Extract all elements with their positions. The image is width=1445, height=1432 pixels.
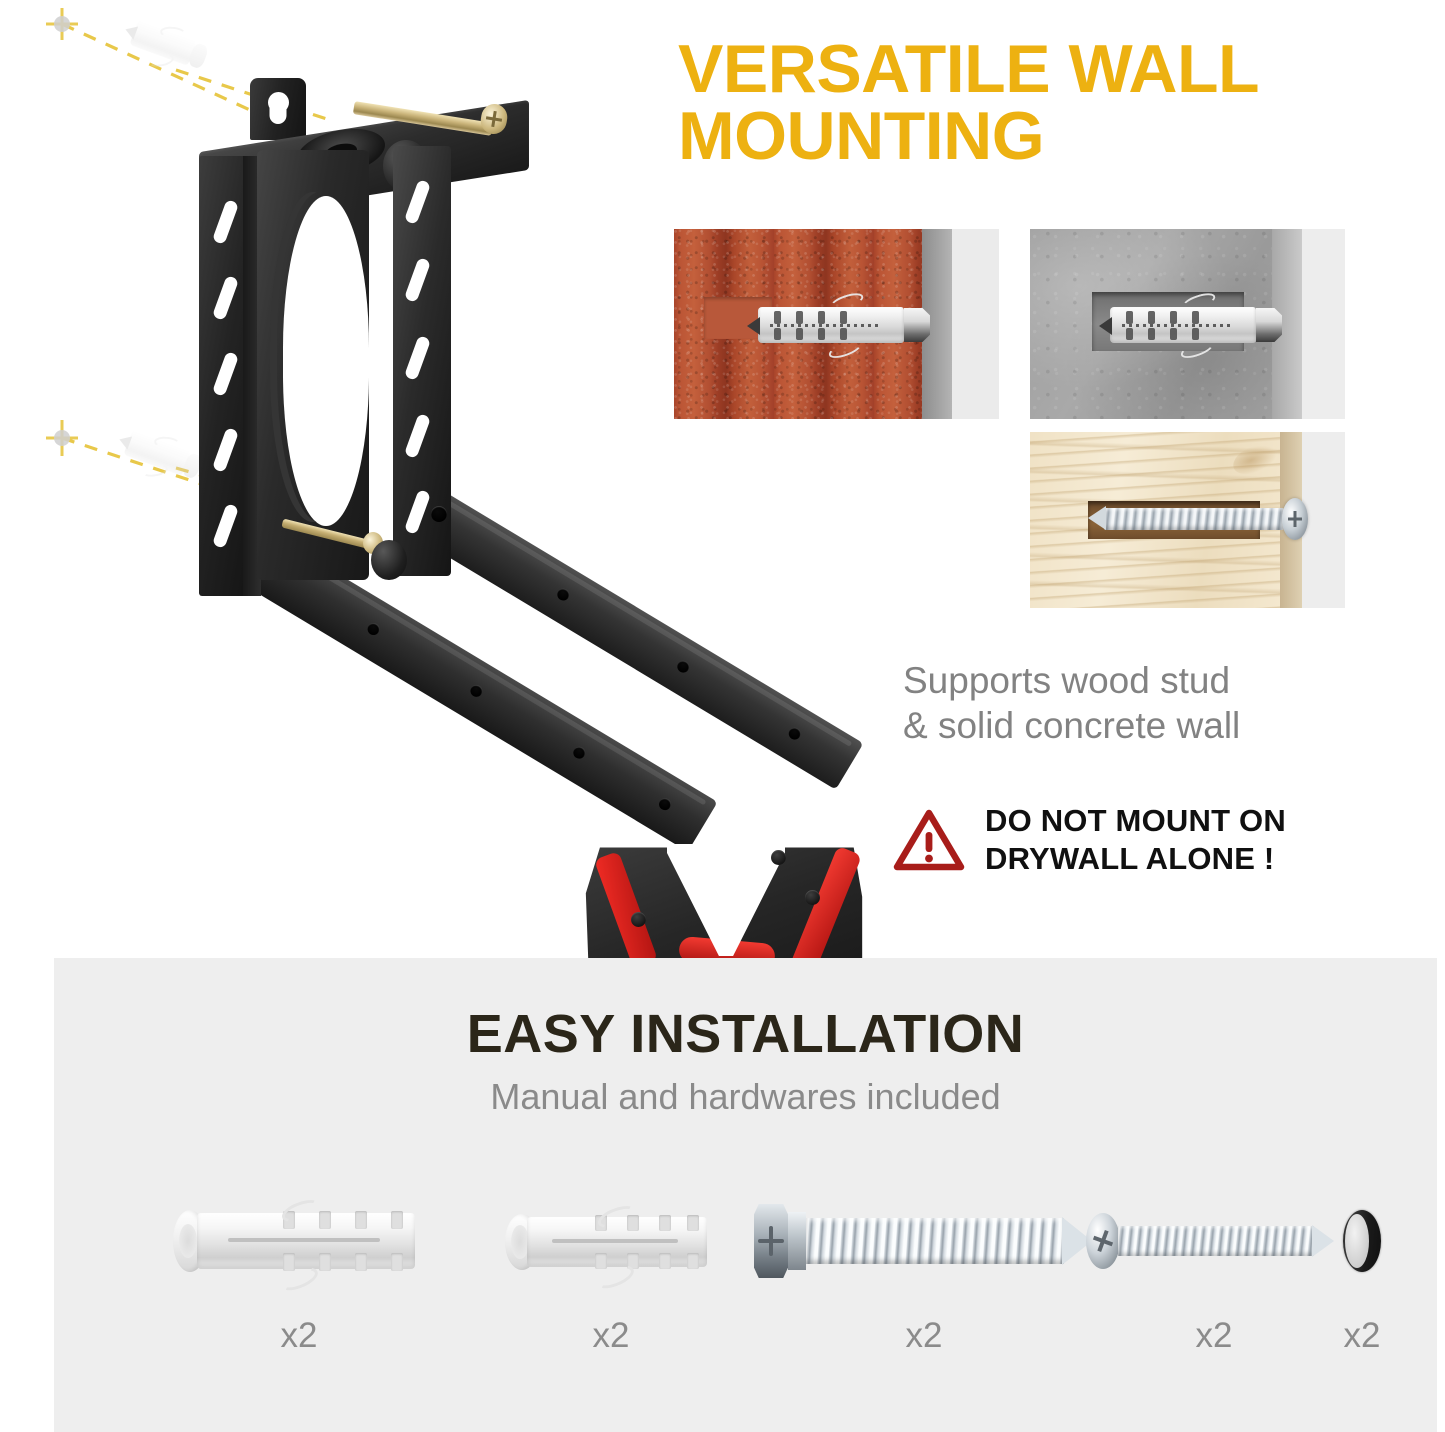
brick-wall-photo: [674, 229, 999, 419]
bracket-arm-lower: [242, 534, 718, 852]
screw-head: [1282, 498, 1308, 540]
bracket-arm-upper: [407, 486, 863, 790]
concrete-wall-photo: [1030, 229, 1345, 419]
hardware-item-rubber-cap: x2: [1292, 1186, 1432, 1353]
hardware-list: x2: [54, 1186, 1437, 1416]
support-description: Supports wood stud & solid concrete wall: [903, 658, 1423, 748]
infographic-canvas: VERSATILE WALL MOUNTING: [0, 0, 1445, 1432]
wood-stud-photo: [1030, 432, 1345, 608]
anchor-in-brick-icon: [758, 307, 904, 343]
bracket-left-rail: [199, 156, 261, 596]
hardware-qty: x2: [169, 1318, 429, 1353]
hardware-item-expansion-anchor-large: x2: [169, 1186, 429, 1353]
hardware-qty: x2: [486, 1318, 736, 1353]
bracket-center-plate: [257, 150, 369, 580]
bracket-pivot-hole: [431, 506, 447, 522]
rubber-cap-icon: [1343, 1210, 1381, 1272]
product-image-wall-mount-bracket: [185, 78, 885, 938]
hardware-qty: x2: [744, 1318, 1104, 1353]
bracket-hanger-tab: [250, 78, 306, 140]
warning-line-2: DRYWALL ALONE !: [985, 840, 1286, 878]
lag-bolt-icon: [754, 1195, 1094, 1287]
drywall-warning: DO NOT MOUNT ON DRYWALL ALONE !: [893, 802, 1433, 879]
support-description-line-2: & solid concrete wall: [903, 703, 1423, 748]
hardware-item-lag-bolt: x2: [744, 1186, 1104, 1353]
support-description-line-1: Supports wood stud: [903, 658, 1423, 703]
easy-installation-panel: EASY INSTALLATION Manual and hardwares i…: [54, 958, 1437, 1432]
warning-line-1: DO NOT MOUNT ON: [985, 802, 1286, 840]
hardware-item-expansion-anchor-small: x2: [486, 1186, 736, 1353]
anchor-in-concrete-icon: [1110, 307, 1256, 343]
screw-in-wood-icon: [1104, 508, 1284, 530]
panel-title: EASY INSTALLATION: [54, 1003, 1437, 1065]
warning-triangle-icon: [893, 808, 965, 872]
expansion-anchor-large-icon: [173, 1186, 425, 1296]
bracket-lock-knob: [371, 540, 407, 580]
hardware-qty: x2: [1292, 1318, 1432, 1353]
panel-subtitle: Manual and hardwares included: [54, 1076, 1437, 1118]
expansion-anchor-small-icon: [505, 1192, 717, 1292]
